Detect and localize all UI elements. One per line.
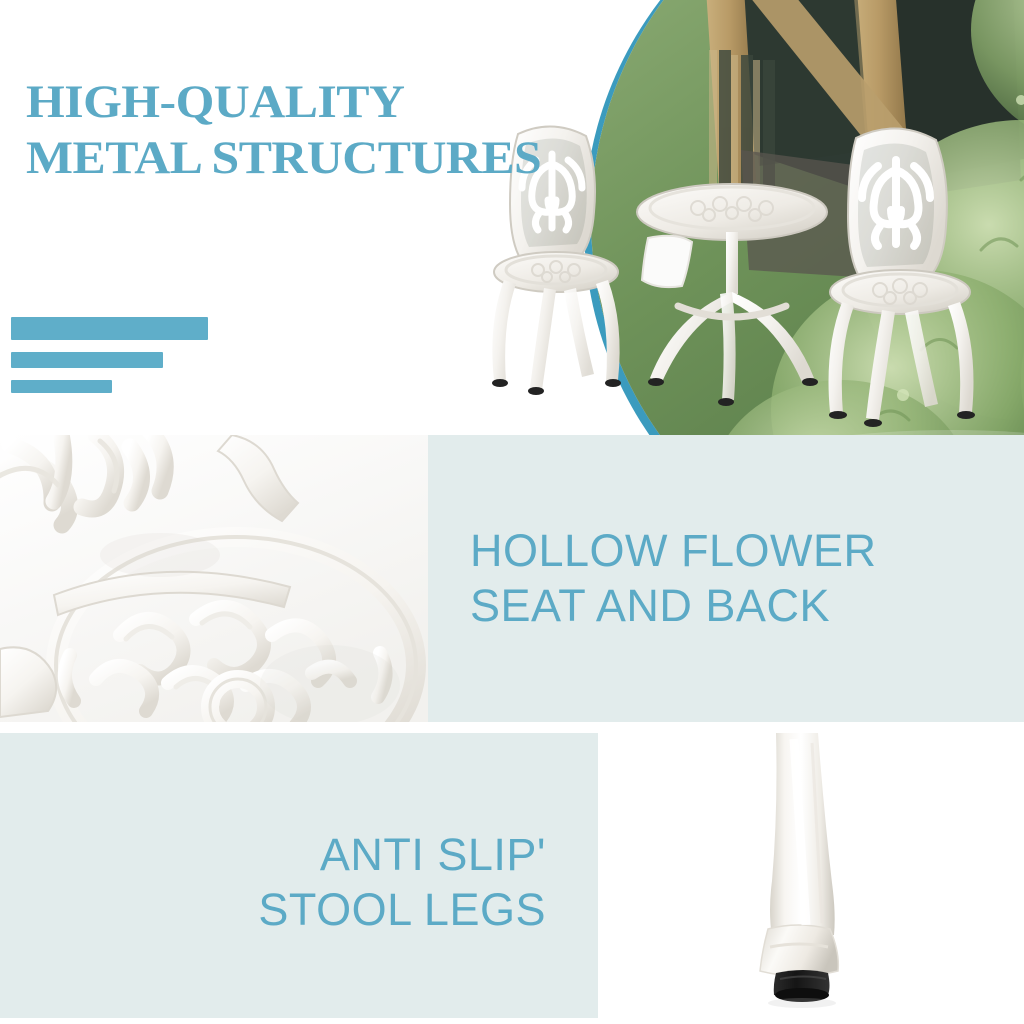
hero-section: HIGH-QUALITY METAL STRUCTURES <box>0 0 1024 435</box>
decor-bar-1 <box>11 317 208 340</box>
feature-caption-anti-slip: ANTI SLIP' STOOL LEGS <box>0 828 546 938</box>
decor-bar-3 <box>11 380 112 393</box>
feature-section-hollow-flower: HOLLOW FLOWER SEAT AND BACK <box>0 435 1024 722</box>
infographic-page: HIGH-QUALITY METAL STRUCTURES <box>0 0 1024 1024</box>
page-title: HIGH-QUALITY METAL STRUCTURES <box>26 75 541 186</box>
hero-photo-circle <box>591 0 1024 435</box>
decor-bar-2 <box>11 352 163 368</box>
decor-bars <box>11 317 208 405</box>
seat-closeup-photo <box>0 435 428 722</box>
feature-section-anti-slip: ANTI SLIP' STOOL LEGS <box>0 733 1024 1018</box>
feature-caption-hollow-flower: HOLLOW FLOWER SEAT AND BACK <box>470 524 877 634</box>
leg-closeup-photo <box>598 733 1024 1018</box>
